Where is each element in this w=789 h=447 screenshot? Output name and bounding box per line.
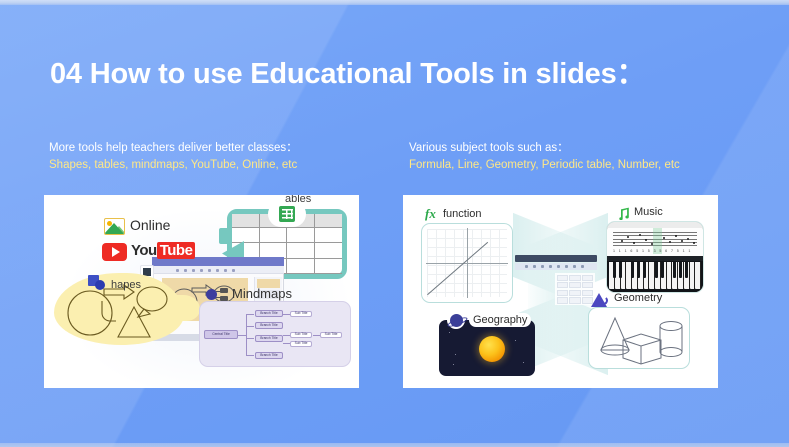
youtube-label: YouTube [131,242,195,259]
center-window-toolbar [515,263,597,270]
caption-right: Various subject tools such as： Formula, … [409,140,680,174]
caption-right-line1: Various subject tools such as： [409,140,680,157]
mindmap-sub-node: Sub Title [320,332,342,338]
right-image-panel: fx function 1 1 1 6 5 1 5 3 5 6 7 5 1 [403,195,718,388]
function-y-axis [467,228,468,298]
piano-top-bar [607,256,703,261]
laptop-toolbar [152,266,284,274]
youtube-label-tube: Tube [157,242,196,259]
center-app-window [515,255,597,307]
music-notation-numbers: 1 1 1 6 5 1 5 3 5 6 7 5 1 1 [613,249,692,253]
youtube-icon [102,243,127,261]
shapes-label: hapes [111,279,141,291]
youtube-label-you: You [131,242,157,259]
online-label: Online [130,217,170,233]
geography-label: Geography [469,313,531,327]
page-title: 04 How to use Educational Tools in slide… [50,50,750,92]
spreadsheet-icon [279,206,295,222]
caption-left-line1: More tools help teachers deliver better … [49,140,298,157]
mindmap-card: Central Title Branch Title Branch Title … [199,301,351,367]
triangle-icon [591,293,609,309]
caption-right-line2: Formula, Line, Geometry, Periodic table,… [409,157,680,174]
function-label: function [443,208,482,220]
mindmap-branch-node: Branch Title [255,310,283,317]
music-card: 1 1 1 6 5 1 5 3 5 6 7 5 1 1 [606,221,704,293]
geometry-label: Geometry [614,292,662,304]
image-icon [104,218,125,235]
geometry-card [588,307,690,369]
mindmap-icon [206,288,228,301]
mindmap-branch-node: Branch Title [255,352,283,359]
caption-left-line2: Shapes, tables, mindmaps, YouTube, Onlin… [49,157,298,174]
music-label: Music [634,206,663,218]
center-window-grid [555,273,595,305]
mindmap-branch-node: Branch Title [255,322,283,329]
shapes-icon [88,275,106,291]
geometry-shapes-sketch [589,308,691,370]
mindmaps-label: Mindmaps [232,286,292,301]
mindmap-branch-node: Branch Title [255,335,283,342]
mindmap-sub-node: Sub Title [290,332,312,338]
sun-illustration [479,336,505,362]
formula-icon: fx [425,206,436,222]
tables-label: ables [285,195,311,205]
function-card [421,223,513,303]
slide-canvas: 04 How to use Educational Tools in slide… [0,0,789,447]
mindmap-sub-node: Sub Title [290,311,312,317]
mindmap-sub-node: Sub Title [290,341,312,347]
top-edge-strip [0,0,789,5]
piano-keyboard [607,256,703,292]
center-window-titlebar [515,255,597,262]
planet-icon [447,311,465,329]
music-note-icon [616,207,629,220]
left-image-panel: ables [44,195,359,388]
caption-left: More tools help teachers deliver better … [49,140,298,174]
mindmap-central-node: Central Title [204,330,238,339]
bottom-edge-strip [0,443,789,447]
sheet-music-area: 1 1 1 6 5 1 5 3 5 6 7 5 1 1 [607,222,703,256]
